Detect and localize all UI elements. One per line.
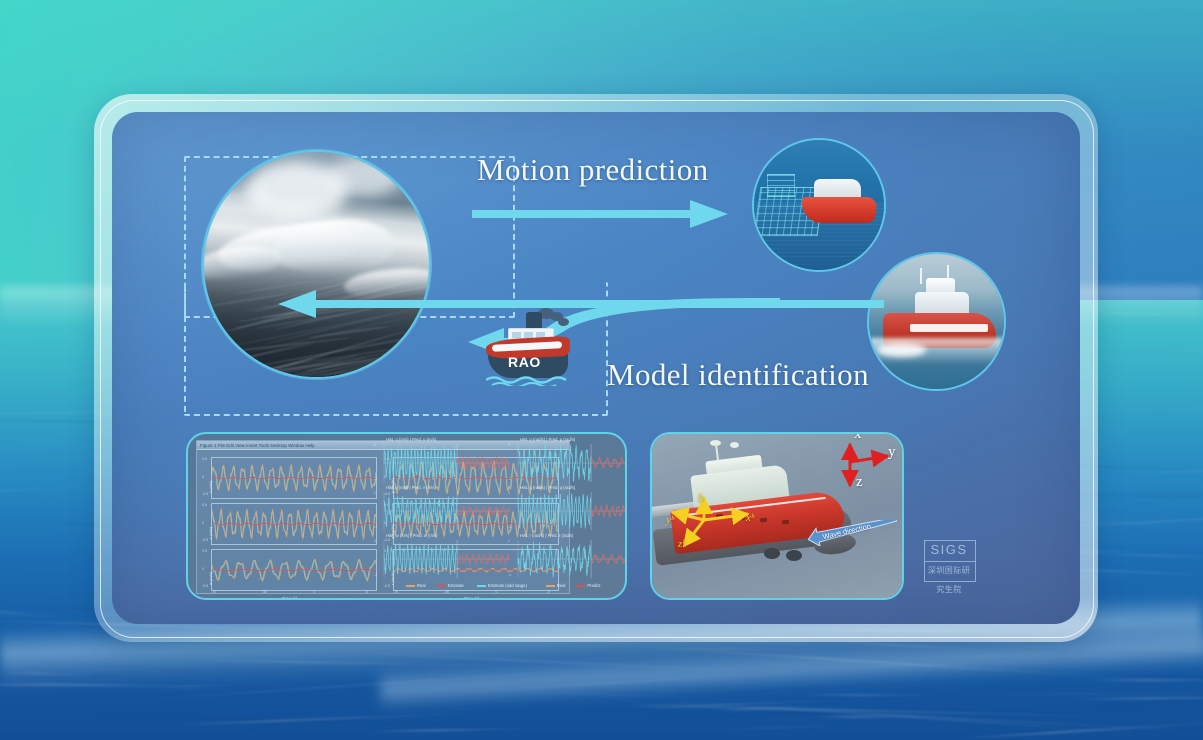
axis-tick: 1 (374, 443, 376, 447)
right-subplot: Hist. w (m/s) | Pred. w (m/s) 1 -1 (384, 540, 510, 578)
body-origin-label: b (698, 490, 704, 505)
model-identification-label: Model identification (607, 357, 869, 393)
axis-tick: 0 (314, 590, 316, 594)
axis-tick: 1 (374, 491, 376, 495)
motion-prediction-arrow (472, 194, 732, 234)
axis-tick: -1 (508, 573, 511, 577)
ship-coordinate-card: x y z xᵇ yᵇ z (650, 432, 904, 600)
legend-label: Estimate (448, 583, 464, 588)
left-subplot (211, 503, 377, 545)
chart-legend: RealEstimateEstimate (odd range)RealPred… (406, 582, 618, 591)
right-subplot-title: Hist. u (m/s) | Pred. u (m/s) (386, 437, 436, 442)
axis-tick: -70 (211, 590, 216, 594)
wave-direction-arrow: Wave direction (808, 520, 900, 546)
body-axis-z-label: zᵇ (678, 538, 685, 550)
left-subplot-xlabel: Time (s) (282, 596, 297, 600)
legend-label: Estimate (odd range) (488, 583, 527, 588)
rao-ship-icon: RAO (480, 310, 578, 388)
matlab-figure-window: Figure 1 File Edit View Insert Tools Des… (196, 440, 570, 594)
axis-tick: 1 (374, 539, 376, 543)
legend-swatch (546, 585, 555, 587)
sigs-logo-text: SIGS (924, 540, 974, 560)
axis-tick: -1 (374, 477, 377, 481)
world-axis-y-label: y (888, 444, 896, 461)
right-subplot-title: Hist. w (m/s) | Pred. w (m/s) (386, 533, 438, 538)
world-axis-x-label: x (854, 432, 862, 443)
axis-tick: 0.5 (202, 503, 207, 507)
ocean-wave-photo (202, 150, 431, 379)
body-axis-x-label: xᵇ (746, 512, 754, 524)
motion-prediction-label: Motion prediction (477, 152, 709, 188)
axis-tick: -1 (374, 525, 377, 529)
right-subplot-title: Hist. q (rad/s) | Pred. q (rad/s) (520, 485, 575, 490)
axis-tick: -0.5 (202, 538, 208, 542)
axis-tick: 0 (202, 567, 204, 571)
left-subplot (211, 549, 377, 591)
body-coordinate-axes: xᵇ yᵇ zᵇ b (670, 496, 762, 558)
figure-titlebar: Figure 1 File Edit View Insert Tools Des… (197, 441, 569, 450)
axis-tick: -1 (374, 573, 377, 577)
rao-water-icon (486, 374, 572, 386)
axis-tick: -0.5 (384, 584, 390, 588)
axis-tick: -70 (393, 590, 398, 594)
right-subplot-title: Hist. r (rad/s) | Pred. r (rad/s) (520, 533, 573, 538)
legend-label: Real (417, 583, 426, 588)
sigs-logo-subtext: 深圳国际研究生院 (924, 561, 974, 580)
legend-label: Predict (587, 583, 600, 588)
ship-real-photo (867, 252, 1006, 391)
axis-tick: -0.5 (202, 492, 208, 496)
right-subplot: Hist. r (rad/s) | Pred. r (rad/s) 1 -1 (518, 540, 627, 578)
axis-tick: 0.5 (202, 549, 207, 553)
axis-tick: -1 (508, 525, 511, 529)
world-coordinate-axes: x y z (838, 438, 900, 494)
legend-label: Real (557, 583, 566, 588)
graphical-abstract: Motion prediction Model identification R… (0, 0, 1203, 740)
axis-tick: -0.5 (202, 584, 208, 588)
axis-tick: -50 (262, 590, 267, 594)
right-subplot-title: Hist. v (m/s) | Pred. v (m/s) (386, 485, 436, 490)
left-subplot-ylabel: v (m/s) (208, 527, 213, 539)
world-axis-z-label: z (856, 474, 863, 491)
axis-tick: 1 (508, 539, 510, 543)
body-axis-y-label: yᵇ (666, 514, 674, 526)
right-subplot: Hist. v (m/s) | Pred. v (m/s) 1 -1 (384, 492, 510, 530)
axis-tick: 1 (508, 491, 510, 495)
left-subplot-ylabel: w (m/s) (208, 572, 213, 585)
axis-tick: -1 (508, 477, 511, 481)
ship-cfd-mesh-photo (752, 138, 886, 272)
prediction-charts-card: Figure 1 File Edit View Insert Tools Des… (186, 432, 627, 600)
left-subplot-ylabel: u (m/s) (208, 481, 213, 493)
left-subplot (211, 457, 377, 499)
legend-swatch (477, 585, 486, 587)
axis-tick: 0 (202, 521, 204, 525)
legend-swatch (576, 585, 585, 587)
rao-icon-text: RAO (508, 354, 541, 370)
right-subplot: Hist. u (m/s) | Pred. u (m/s) 1 -1 (384, 444, 510, 482)
main-panel: Motion prediction Model identification R… (112, 112, 1080, 624)
axis-tick: -0 (365, 590, 368, 594)
axis-tick: 0 (202, 475, 204, 479)
left-subplot-xlabel: Time (s) (464, 596, 479, 600)
axis-tick: 0.5 (202, 457, 207, 461)
legend-swatch (406, 585, 415, 587)
axis-tick: 1 (508, 443, 510, 447)
right-subplot: Hist. q (rad/s) | Pred. q (rad/s) 1 -1 (518, 492, 627, 530)
right-subplot: Hist. p (rad/s) | Pred. p (rad/s) 1 -1 (518, 444, 627, 482)
sigs-logo: SIGS 深圳国际研究生院 (924, 540, 974, 582)
legend-swatch (437, 585, 446, 587)
right-subplot-title: Hist. p (rad/s) | Pred. p (rad/s) (520, 437, 575, 442)
